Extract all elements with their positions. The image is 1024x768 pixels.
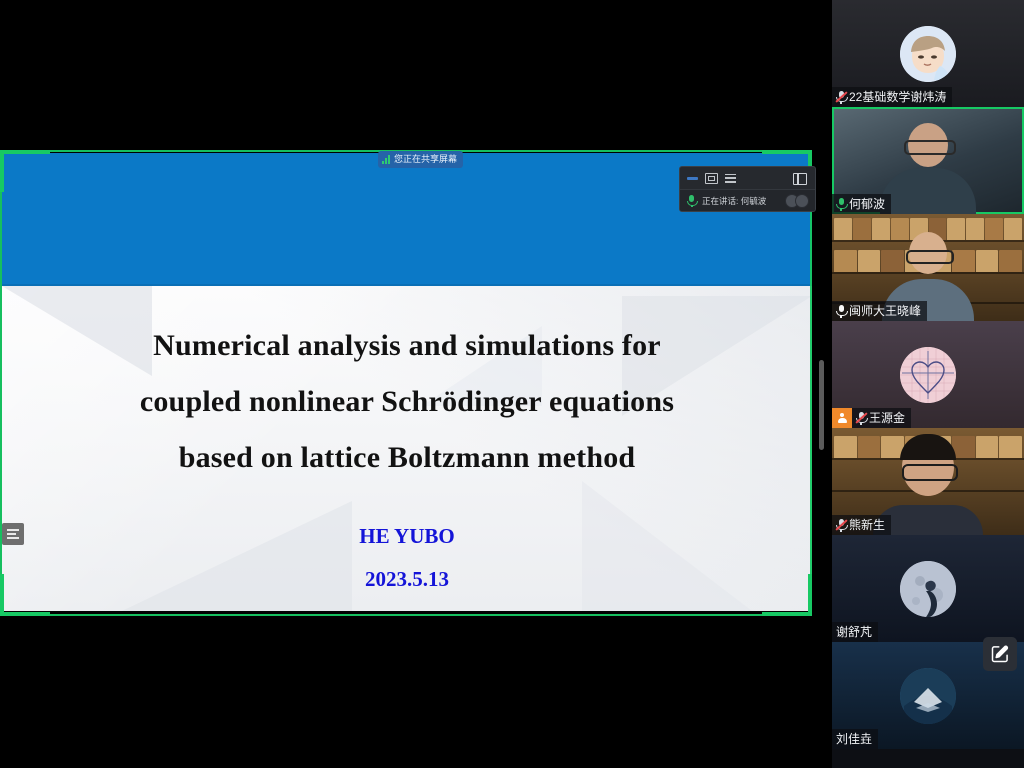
control-bar-top-row xyxy=(680,167,815,189)
control-bar-speaking-row: 正在讲话: 何毓波 xyxy=(680,189,815,211)
share-corner-top-right xyxy=(762,150,812,154)
participant-tile[interactable]: 王源金 xyxy=(832,321,1024,428)
sharing-status-banner: 您正在共享屏幕 xyxy=(378,151,463,168)
annotate-button[interactable] xyxy=(983,637,1017,671)
participant-name: 何郁波 xyxy=(849,194,885,214)
participant-name-chip: 闽师大王晓峰 xyxy=(832,301,927,321)
pencil-square-icon xyxy=(990,644,1010,664)
share-border-right xyxy=(810,150,812,616)
participant-name-chip: 何郁波 xyxy=(832,194,891,214)
layout-switch-icon[interactable] xyxy=(793,173,807,185)
microphone-muted-icon xyxy=(836,91,846,104)
restore-window-icon[interactable] xyxy=(705,173,718,184)
host-badge-icon xyxy=(832,408,852,428)
tile-badges: 刘佳垚 xyxy=(832,729,878,749)
microphone-muted-icon xyxy=(856,412,866,425)
participant-name-chip: 熊新生 xyxy=(832,515,891,535)
participants-list-icon[interactable] xyxy=(725,174,736,183)
share-corner-bottom-right xyxy=(808,574,812,616)
share-corner-top-left xyxy=(0,150,4,192)
participant-name: 谢舒芃 xyxy=(836,622,872,642)
minimize-icon[interactable] xyxy=(687,177,698,180)
microphone-active-icon xyxy=(687,195,696,207)
participant-tile[interactable]: 何郁波 xyxy=(832,107,1024,214)
share-corner-bottom-left xyxy=(0,612,50,616)
tile-badges: 熊新生 xyxy=(832,515,891,535)
participant-name-chip: 王源金 xyxy=(852,408,911,428)
participant-name: 熊新生 xyxy=(849,515,885,535)
eyeglasses-icon xyxy=(906,250,954,264)
sharing-status-text: 您正在共享屏幕 xyxy=(394,154,457,165)
shared-screen-region: Numerical analysis and simulations for c… xyxy=(0,150,828,616)
participant-name: 刘佳垚 xyxy=(836,729,872,749)
tile-badges: 闽师大王晓峰 xyxy=(832,301,927,321)
share-corner-bottom-right xyxy=(762,612,812,616)
eyeglasses-icon xyxy=(904,140,956,155)
share-border-bottom xyxy=(0,614,812,616)
participant-name-chip: 刘佳垚 xyxy=(832,729,878,749)
share-corner-top-left xyxy=(0,150,50,154)
share-border-left xyxy=(0,150,2,616)
participant-name: 闽师大王晓峰 xyxy=(849,301,921,321)
participant-name: 王源金 xyxy=(869,408,905,428)
blue-avatar xyxy=(900,668,956,724)
current-speaker-text: 正在讲话: 何毓波 xyxy=(702,195,766,207)
share-corner-bottom-left xyxy=(0,574,4,616)
meeting-screen: Numerical analysis and simulations for c… xyxy=(0,0,1024,768)
anime-avatar xyxy=(900,26,956,82)
meeting-control-bar[interactable]: 正在讲话: 何毓波 xyxy=(679,166,816,212)
signal-icon xyxy=(382,155,390,164)
microphone-muted-icon xyxy=(836,519,846,532)
tile-badges: 22基础数学谢炜涛 xyxy=(832,87,952,107)
participant-name: 22基础数学谢炜涛 xyxy=(849,87,946,107)
microphone-active-icon xyxy=(836,305,846,318)
participant-tile[interactable]: 谢舒芃 xyxy=(832,535,1024,642)
eyeglasses-icon xyxy=(902,464,958,481)
participant-tile[interactable]: 熊新生 xyxy=(832,428,1024,535)
heart-graph-avatar xyxy=(900,347,956,403)
tile-badges: 何郁波 xyxy=(832,194,891,214)
participant-tile[interactable]: 闽师大王晓峰 xyxy=(832,214,1024,321)
speaker-avatar-group xyxy=(789,194,809,208)
microphone-active-icon xyxy=(836,198,846,211)
participant-name-chip: 谢舒芃 xyxy=(832,622,878,642)
video-torso xyxy=(880,168,976,214)
participant-tile[interactable]: 22基础数学谢炜涛 xyxy=(832,0,1024,107)
tile-badges: 谢舒芃 xyxy=(832,622,878,642)
share-border-frame xyxy=(0,150,828,616)
tile-badges: 王源金 xyxy=(832,408,911,428)
participant-name-chip: 22基础数学谢炜涛 xyxy=(832,87,952,107)
moon-avatar xyxy=(900,561,956,617)
